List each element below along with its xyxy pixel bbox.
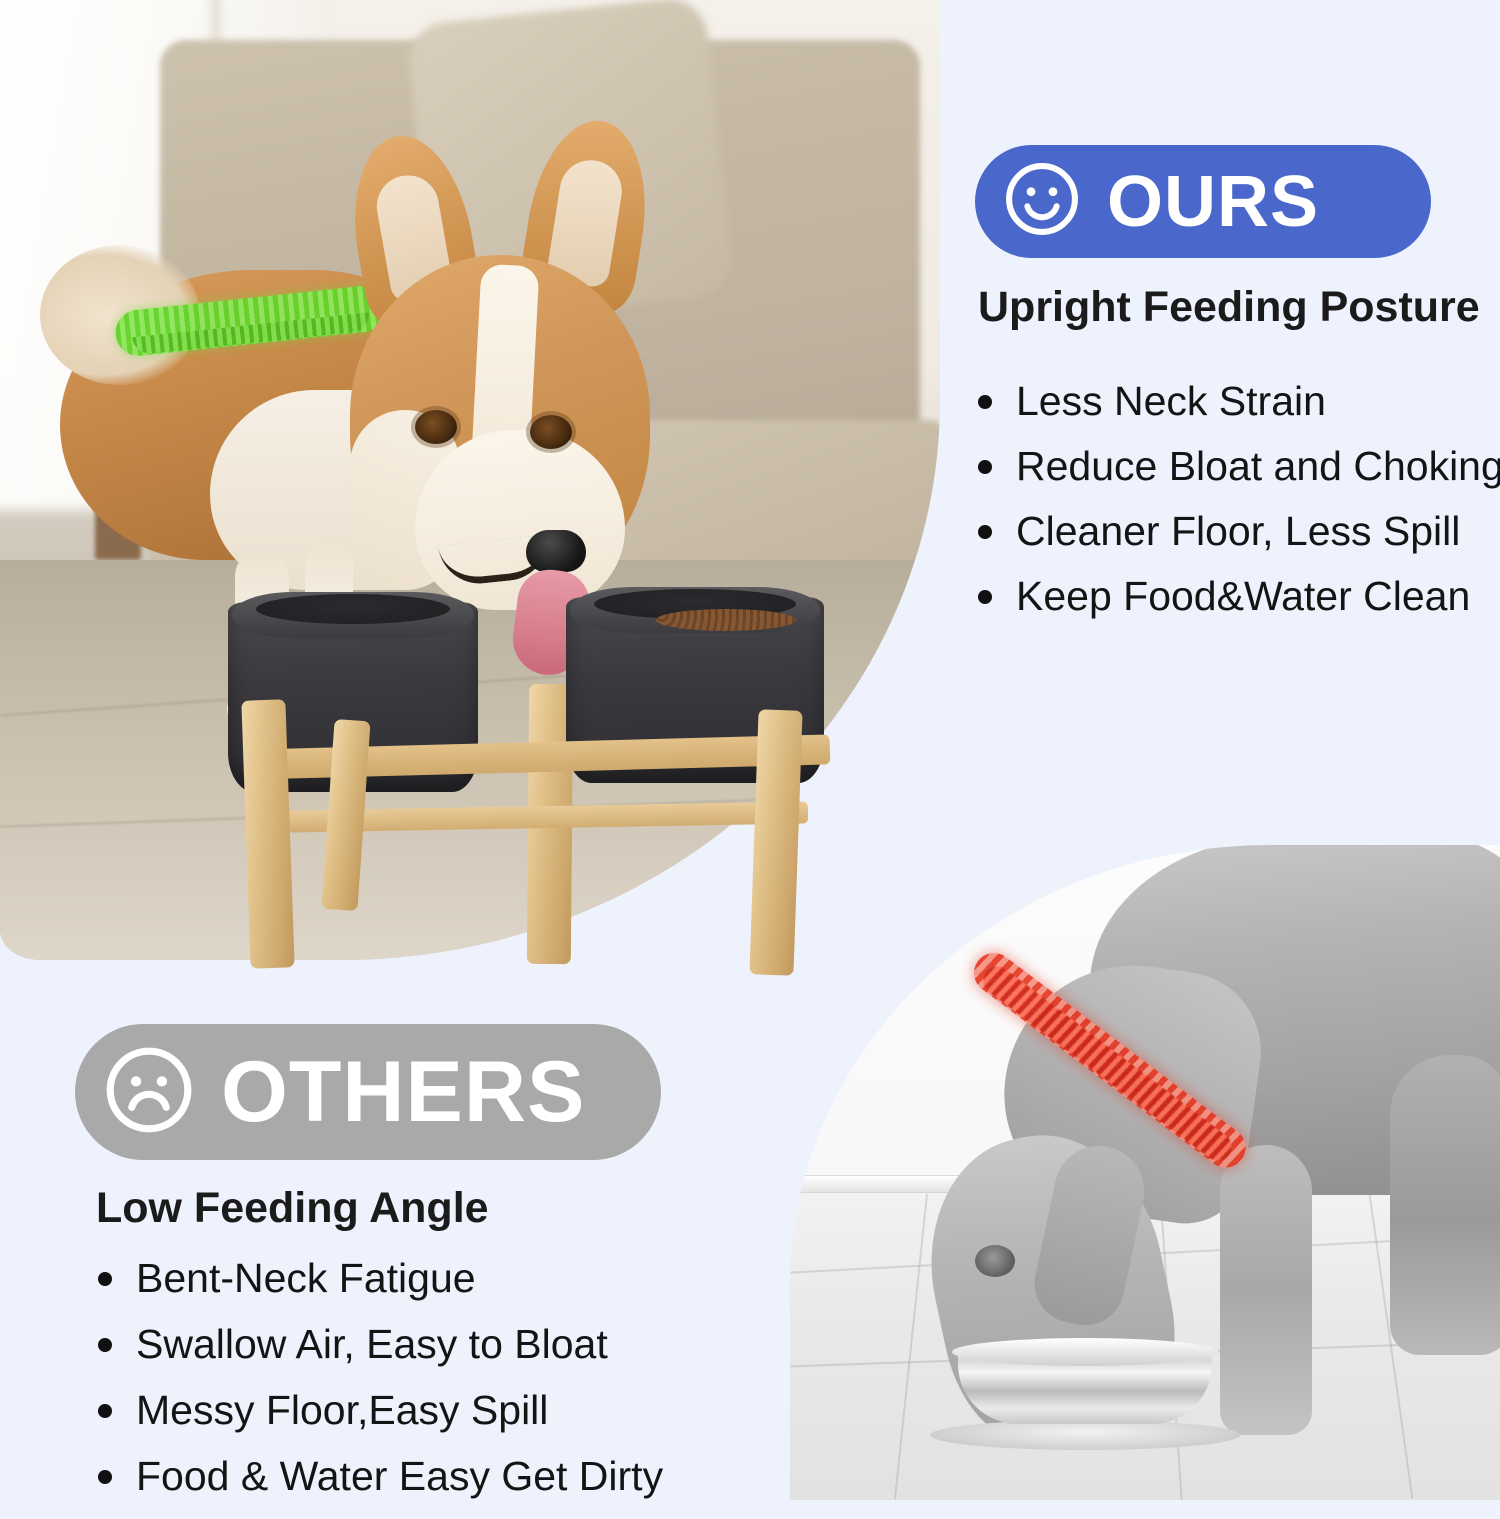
corgi-muzzle	[415, 430, 625, 610]
bullet-dot-icon	[98, 1338, 112, 1352]
bullet-dot-icon	[98, 1470, 112, 1484]
tile-seam	[894, 1194, 928, 1500]
list-item: Reduce Bloat and Choking	[978, 443, 1500, 490]
steel-bowl-rim	[952, 1338, 1218, 1366]
corgi-eye-right	[530, 415, 572, 449]
ours-badge: OURS	[975, 145, 1431, 258]
others-drawback-list: Bent-Neck Fatigue Swallow Air, Easy to B…	[98, 1255, 663, 1519]
corgi-eye-left	[415, 410, 457, 444]
bowl-rim	[570, 587, 820, 633]
list-item-label: Less Neck Strain	[1016, 378, 1326, 425]
sad-face-icon	[103, 1044, 195, 1141]
list-item-label: Cleaner Floor, Less Spill	[1016, 508, 1460, 555]
steel-bowl-base	[930, 1420, 1240, 1450]
stand-leg-left-front	[241, 699, 294, 968]
smiley-face-icon	[1003, 160, 1081, 243]
grey-dog-eye	[975, 1245, 1015, 1277]
others-subheading: Low Feeding Angle	[96, 1184, 489, 1233]
list-item: Keep Food&Water Clean	[978, 573, 1500, 620]
list-item-label: Food & Water Easy Get Dirty	[136, 1453, 663, 1500]
ours-subheading: Upright Feeding Posture	[978, 283, 1480, 332]
bullet-dot-icon	[978, 395, 992, 409]
list-item: Cleaner Floor, Less Spill	[978, 508, 1500, 555]
stainless-steel-floor-bowl	[930, 1340, 1240, 1450]
list-item-label: Swallow Air, Easy to Bloat	[136, 1321, 608, 1368]
kibble-food	[656, 609, 796, 631]
elevated-dog-bowl-stand	[228, 592, 858, 992]
list-item-label: Bent-Neck Fatigue	[136, 1255, 476, 1302]
others-badge: OTHERS	[75, 1024, 661, 1160]
list-item: Bent-Neck Fatigue	[98, 1255, 663, 1302]
infographic-canvas: OURS Upright Feeding Posture Less Neck S…	[0, 0, 1500, 1500]
bowl-interior	[594, 589, 796, 619]
list-item: Food & Water Easy Get Dirty	[98, 1453, 663, 1500]
bullet-dot-icon	[978, 525, 992, 539]
ours-badge-label: OURS	[1107, 166, 1319, 238]
list-item-label: Keep Food&Water Clean	[1016, 573, 1470, 620]
stand-cross-beam	[288, 801, 808, 832]
list-item-label: Messy Floor,Easy Spill	[136, 1387, 548, 1434]
bowl-rim	[232, 592, 474, 638]
bullet-dot-icon	[98, 1272, 112, 1286]
bullet-dot-icon	[978, 590, 992, 604]
list-item: Less Neck Strain	[978, 378, 1500, 425]
list-item-label: Reduce Bloat and Choking	[1016, 443, 1500, 490]
list-item: Swallow Air, Easy to Bloat	[98, 1321, 663, 1368]
corgi-nose	[526, 530, 586, 572]
bullet-dot-icon	[98, 1404, 112, 1418]
bowl-interior	[256, 594, 450, 624]
ours-benefit-list: Less Neck Strain Reduce Bloat and Chokin…	[978, 378, 1500, 638]
list-item: Messy Floor,Easy Spill	[98, 1387, 663, 1434]
bullet-dot-icon	[978, 460, 992, 474]
others-badge-label: OTHERS	[221, 1049, 585, 1135]
grey-dog-hind-leg	[1390, 1055, 1500, 1355]
others-product-photo	[790, 845, 1500, 1500]
